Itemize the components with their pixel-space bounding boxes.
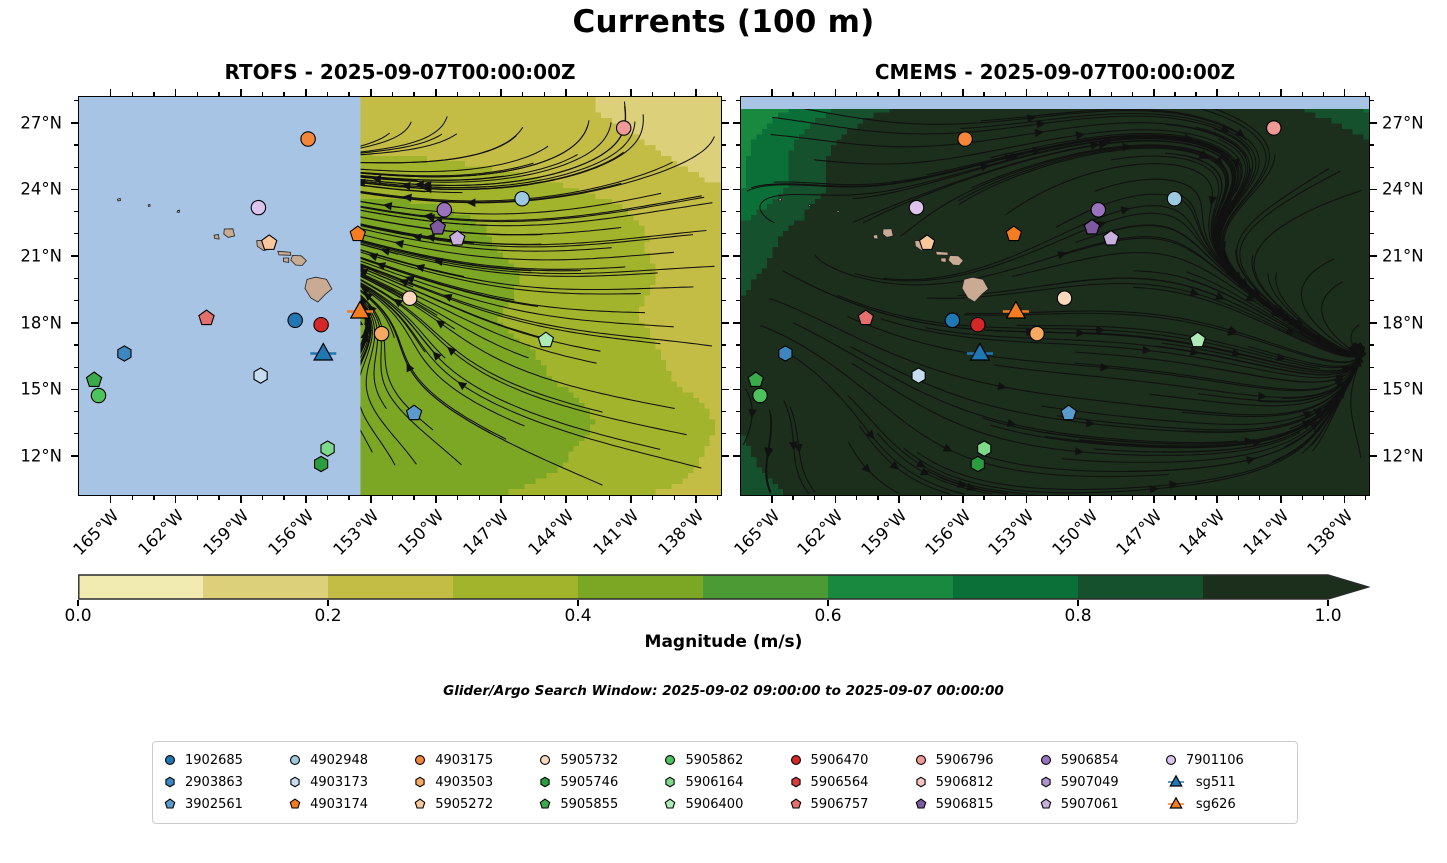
x-tick bbox=[1089, 496, 1091, 503]
figure-title: Currents (100 m) bbox=[0, 4, 1447, 40]
y-tick-opposite bbox=[722, 322, 729, 324]
x-minor-tick bbox=[413, 496, 414, 500]
legend-label: 5905732 bbox=[560, 753, 618, 768]
x-minor-tick bbox=[856, 496, 857, 500]
x-minor-tick bbox=[877, 92, 878, 96]
marker-4903175 bbox=[301, 132, 315, 146]
x-minor-tick bbox=[1323, 496, 1324, 500]
x-minor-tick bbox=[652, 496, 653, 500]
legend-marker-hexagon bbox=[662, 774, 678, 790]
marker-2903863 bbox=[779, 346, 792, 361]
y-minor-tick bbox=[722, 278, 726, 279]
y-minor-tick bbox=[1370, 300, 1374, 301]
colorbar-band bbox=[1078, 575, 1204, 599]
float-legend: 1902685490294849031755905732590586259064… bbox=[152, 741, 1298, 824]
x-tick-label: 144°W bbox=[524, 506, 577, 559]
x-minor-tick bbox=[587, 92, 588, 96]
x-minor-tick bbox=[609, 92, 610, 96]
x-minor-tick bbox=[1259, 496, 1260, 500]
island-niihau bbox=[873, 235, 878, 240]
x-minor-tick bbox=[283, 496, 284, 500]
x-minor-tick bbox=[1111, 496, 1112, 500]
y-tick-label: 27°N bbox=[1382, 113, 1447, 132]
y-tick-label: 12°N bbox=[1382, 447, 1447, 466]
colorbar-tick-label: 0.8 bbox=[1064, 606, 1091, 626]
legend-grid: 1902685490294849031755905732590586259064… bbox=[162, 749, 1288, 815]
y-tick-label: 18°N bbox=[0, 313, 62, 332]
x-minor-tick bbox=[1047, 92, 1048, 96]
y-minor-tick bbox=[74, 344, 78, 345]
y-tick-opposite bbox=[733, 389, 740, 391]
search-window-caption: Glider/Argo Search Window: 2025-09-02 09… bbox=[0, 683, 1447, 699]
x-tick-top bbox=[1026, 89, 1028, 96]
colorbar-tick-label: 0.6 bbox=[814, 606, 841, 626]
legend-label: 5905862 bbox=[685, 753, 743, 768]
legend-label: 5906812 bbox=[936, 775, 994, 790]
x-tick-label: 141°W bbox=[1239, 506, 1292, 559]
x-minor-tick bbox=[587, 496, 588, 500]
x-minor-tick bbox=[1132, 496, 1133, 500]
legend-item-7901106[interactable]: 7901106 bbox=[1163, 749, 1288, 771]
x-minor-tick bbox=[1195, 496, 1196, 500]
x-minor-tick bbox=[1238, 496, 1239, 500]
y-tick-opposite bbox=[722, 389, 729, 391]
y-minor-tick bbox=[722, 344, 726, 345]
y-tick bbox=[71, 189, 78, 191]
x-tick bbox=[565, 496, 567, 503]
y-minor-tick bbox=[1370, 433, 1374, 434]
x-minor-tick bbox=[348, 496, 349, 500]
x-tick-label: 153°W bbox=[985, 506, 1038, 559]
x-tick-top bbox=[435, 89, 437, 96]
x-minor-tick bbox=[479, 496, 480, 500]
legend-item-sg626[interactable]: sg626 bbox=[1163, 793, 1288, 815]
x-tick-top bbox=[1344, 89, 1346, 96]
island-lanai bbox=[283, 258, 288, 262]
legend-marker-circle bbox=[162, 752, 178, 768]
x-minor-tick bbox=[983, 496, 984, 500]
y-minor-tick bbox=[736, 300, 740, 301]
colorbar-tick-label: 0.2 bbox=[314, 606, 341, 626]
marker-4902948 bbox=[515, 192, 529, 206]
x-minor-tick bbox=[814, 92, 815, 96]
x-tick bbox=[240, 496, 242, 503]
colorbar bbox=[78, 574, 1370, 600]
x-minor-tick bbox=[814, 496, 815, 500]
y-minor-tick bbox=[722, 144, 726, 145]
y-minor-tick bbox=[736, 367, 740, 368]
panel-title-cmems: CMEMS - 2025-09-07T00:00:00Z bbox=[740, 60, 1370, 84]
x-minor-tick bbox=[1005, 496, 1006, 500]
x-tick-label: 153°W bbox=[329, 506, 382, 559]
legend-marker-circle bbox=[788, 752, 804, 768]
marker-5906854 bbox=[1091, 203, 1105, 217]
legend-item-5906757[interactable]: 5906757 bbox=[788, 793, 913, 815]
legend-marker-hexagon bbox=[1038, 774, 1054, 790]
legend-item-4903174[interactable]: 4903174 bbox=[287, 793, 412, 815]
legend-marker-hexagon bbox=[162, 774, 178, 790]
y-minor-tick bbox=[1370, 100, 1374, 101]
x-tick-top bbox=[565, 89, 567, 96]
y-tick bbox=[1370, 255, 1377, 257]
x-tick-top bbox=[305, 89, 307, 96]
legend-label: 4903173 bbox=[310, 775, 368, 790]
x-minor-tick bbox=[1323, 92, 1324, 96]
y-minor-tick bbox=[74, 211, 78, 212]
x-tick bbox=[175, 496, 177, 503]
y-minor-tick bbox=[1370, 367, 1374, 368]
marker-5906164 bbox=[978, 441, 991, 456]
y-minor-tick bbox=[736, 211, 740, 212]
y-tick bbox=[1370, 189, 1377, 191]
marker-5906164 bbox=[321, 441, 334, 456]
marker-7901106 bbox=[251, 200, 265, 214]
marker-2903863 bbox=[118, 346, 131, 361]
legend-marker-pentagon bbox=[537, 796, 553, 812]
y-minor-tick bbox=[722, 433, 726, 434]
x-minor-tick bbox=[792, 92, 793, 96]
x-minor-tick bbox=[1302, 496, 1303, 500]
x-minor-tick bbox=[674, 92, 675, 96]
x-minor-tick bbox=[941, 496, 942, 500]
y-tick-label: 27°N bbox=[0, 113, 62, 132]
x-tick-top bbox=[240, 89, 242, 96]
y-tick bbox=[1370, 322, 1377, 324]
y-tick bbox=[1370, 455, 1377, 457]
colorbar-band bbox=[578, 575, 704, 599]
map-panel-rtofs[interactable] bbox=[78, 96, 722, 496]
marker-1902685 bbox=[945, 313, 959, 327]
x-minor-tick bbox=[920, 496, 921, 500]
marker-5905732 bbox=[403, 291, 417, 305]
x-minor-tick bbox=[153, 496, 154, 500]
y-minor-tick bbox=[736, 233, 740, 234]
x-tick bbox=[500, 496, 502, 503]
marker-5906796 bbox=[1267, 121, 1281, 135]
legend-item-5906796[interactable]: 5906796 bbox=[913, 749, 1038, 771]
y-minor-tick bbox=[1370, 167, 1374, 168]
y-minor-tick bbox=[74, 367, 78, 368]
island-nihoa bbox=[177, 210, 179, 212]
x-minor-tick bbox=[218, 92, 219, 96]
legend-label: sg511 bbox=[1196, 775, 1236, 790]
x-minor-tick bbox=[1111, 92, 1112, 96]
x-tick-label: 165°W bbox=[730, 506, 783, 559]
x-tick-top bbox=[1153, 89, 1155, 96]
marker-4902948 bbox=[1167, 192, 1181, 206]
legend-label: 4903174 bbox=[310, 797, 368, 812]
legend-marker-pentagon bbox=[412, 796, 428, 812]
x-minor-tick bbox=[544, 496, 545, 500]
x-tick-label: 159°W bbox=[199, 506, 252, 559]
y-tick-label: 12°N bbox=[0, 447, 62, 466]
y-minor-tick bbox=[722, 367, 726, 368]
marker-5906470 bbox=[971, 318, 985, 332]
legend-marker-circle bbox=[913, 752, 929, 768]
marker-5905862 bbox=[753, 388, 767, 402]
y-minor-tick bbox=[1370, 211, 1374, 212]
y-tick-opposite bbox=[722, 255, 729, 257]
x-tick bbox=[1216, 496, 1218, 503]
legend-marker-triangle-track bbox=[1163, 774, 1189, 790]
legend-label: 5905272 bbox=[435, 797, 493, 812]
x-tick-label: 159°W bbox=[857, 506, 910, 559]
legend-item-5906854[interactable]: 5906854 bbox=[1038, 749, 1163, 771]
x-minor-tick bbox=[218, 496, 219, 500]
x-minor-tick bbox=[1068, 92, 1069, 96]
legend-item-4903173[interactable]: 4903173 bbox=[287, 771, 412, 793]
legend-item-4903175[interactable]: 4903175 bbox=[412, 749, 537, 771]
marker-1902685 bbox=[288, 313, 302, 327]
x-tick bbox=[1344, 496, 1346, 503]
legend-label: 3902561 bbox=[185, 797, 243, 812]
colorbar-band bbox=[203, 575, 329, 599]
x-minor-tick bbox=[153, 92, 154, 96]
marker-4903173 bbox=[912, 368, 925, 383]
y-minor-tick bbox=[74, 144, 78, 145]
legend-item-5907061[interactable]: 5907061 bbox=[1038, 793, 1163, 815]
island-necker bbox=[118, 198, 121, 201]
x-tick-label: 150°W bbox=[394, 506, 447, 559]
legend-item-1902685[interactable]: 1902685 bbox=[162, 749, 287, 771]
y-tick-label: 24°N bbox=[0, 180, 62, 199]
y-tick-opposite bbox=[733, 455, 740, 457]
x-tick-top bbox=[771, 89, 773, 96]
y-tick-opposite bbox=[733, 255, 740, 257]
legend-item-5906564[interactable]: 5906564 bbox=[788, 771, 913, 793]
x-minor-tick bbox=[920, 92, 921, 96]
x-tick bbox=[305, 496, 307, 503]
legend-label: 5906757 bbox=[811, 797, 869, 812]
x-minor-tick bbox=[609, 496, 610, 500]
legend-item-2903863[interactable]: 2903863 bbox=[162, 771, 287, 793]
x-minor-tick bbox=[674, 496, 675, 500]
legend-item-4903503[interactable]: 4903503 bbox=[412, 771, 537, 793]
x-minor-tick bbox=[1047, 496, 1048, 500]
legend-marker-hexagon bbox=[287, 774, 303, 790]
x-minor-tick bbox=[132, 496, 133, 500]
x-tick-top bbox=[175, 89, 177, 96]
legend-label: 5907049 bbox=[1061, 775, 1119, 790]
legend-label: 5907061 bbox=[1061, 797, 1119, 812]
legend-marker-circle bbox=[1163, 752, 1179, 768]
y-minor-tick bbox=[1370, 278, 1374, 279]
x-minor-tick bbox=[1238, 92, 1239, 96]
legend-label: 5906164 bbox=[685, 775, 743, 790]
legend-marker-pentagon bbox=[662, 796, 678, 812]
legend-marker-circle bbox=[662, 752, 678, 768]
y-minor-tick bbox=[736, 344, 740, 345]
legend-marker-pentagon bbox=[788, 796, 804, 812]
x-tick bbox=[630, 496, 632, 503]
legend-label: 5905746 bbox=[560, 775, 618, 790]
legend-item-5905862[interactable]: 5905862 bbox=[662, 749, 787, 771]
y-tick-opposite bbox=[733, 322, 740, 324]
x-tick-label: 141°W bbox=[589, 506, 642, 559]
x-minor-tick bbox=[1365, 496, 1366, 500]
x-minor-tick bbox=[283, 92, 284, 96]
y-minor-tick bbox=[722, 167, 726, 168]
y-tick-label: 15°N bbox=[0, 380, 62, 399]
marker-7901106 bbox=[909, 200, 923, 214]
y-minor-tick bbox=[722, 100, 726, 101]
x-minor-tick bbox=[544, 92, 545, 96]
x-minor-tick bbox=[877, 496, 878, 500]
island-gardner bbox=[148, 205, 150, 207]
x-minor-tick bbox=[652, 92, 653, 96]
legend-item-5905855[interactable]: 5905855 bbox=[537, 793, 662, 815]
x-minor-tick bbox=[457, 496, 458, 500]
x-minor-tick bbox=[1195, 92, 1196, 96]
y-tick bbox=[71, 455, 78, 457]
legend-label: sg626 bbox=[1196, 797, 1236, 812]
colorbar-tick-label: 0.4 bbox=[564, 606, 591, 626]
marker-5906470 bbox=[314, 318, 328, 332]
legend-marker-hexagon bbox=[412, 774, 428, 790]
legend-marker-circle bbox=[1038, 752, 1054, 768]
x-minor-tick bbox=[132, 92, 133, 96]
marker-5905732 bbox=[1057, 291, 1071, 305]
y-minor-tick bbox=[74, 233, 78, 234]
y-minor-tick bbox=[736, 100, 740, 101]
x-minor-tick bbox=[717, 92, 718, 96]
x-tick-top bbox=[370, 89, 372, 96]
x-minor-tick bbox=[479, 92, 480, 96]
legend-item-5905746[interactable]: 5905746 bbox=[537, 771, 662, 793]
marker-5906796 bbox=[617, 121, 631, 135]
y-tick-label: 24°N bbox=[1382, 180, 1447, 199]
y-minor-tick bbox=[736, 278, 740, 279]
y-minor-tick bbox=[74, 411, 78, 412]
island-gardner bbox=[809, 205, 811, 207]
x-tick-label: 138°W bbox=[654, 506, 707, 559]
legend-label: 5905855 bbox=[560, 797, 618, 812]
x-tick-label: 147°W bbox=[459, 506, 512, 559]
legend-label: 5906815 bbox=[936, 797, 994, 812]
y-minor-tick bbox=[722, 411, 726, 412]
y-minor-tick bbox=[736, 144, 740, 145]
x-tick-label: 147°W bbox=[1112, 506, 1165, 559]
x-minor-tick bbox=[392, 496, 393, 500]
legend-item-sg511[interactable]: sg511 bbox=[1163, 771, 1288, 793]
island-lanai bbox=[941, 258, 946, 262]
x-minor-tick bbox=[348, 92, 349, 96]
x-minor-tick bbox=[262, 496, 263, 500]
marker-4903503 bbox=[1030, 326, 1044, 340]
colorbar-band bbox=[703, 575, 829, 599]
legend-item-4902948[interactable]: 4902948 bbox=[287, 749, 412, 771]
legend-marker-hexagon bbox=[537, 774, 553, 790]
marker-5905862 bbox=[91, 388, 105, 402]
y-minor-tick bbox=[1370, 411, 1374, 412]
y-tick-label: 18°N bbox=[1382, 313, 1447, 332]
legend-item-5906164[interactable]: 5906164 bbox=[662, 771, 787, 793]
y-minor-tick bbox=[736, 167, 740, 168]
legend-label: 1902685 bbox=[185, 753, 243, 768]
y-minor-tick bbox=[1370, 233, 1374, 234]
colorbar-label: Magnitude (m/s) bbox=[0, 632, 1447, 652]
y-minor-tick bbox=[1370, 344, 1374, 345]
legend-marker-circle bbox=[412, 752, 428, 768]
y-tick-opposite bbox=[733, 122, 740, 124]
legend-item-3902561[interactable]: 3902561 bbox=[162, 793, 287, 815]
colorbar-tick-label: 1.0 bbox=[1314, 606, 1341, 626]
legend-marker-pentagon bbox=[1038, 796, 1054, 812]
x-minor-tick bbox=[1068, 496, 1069, 500]
x-minor-tick bbox=[1259, 92, 1260, 96]
y-minor-tick bbox=[722, 233, 726, 234]
map-panel-cmems[interactable] bbox=[740, 96, 1370, 496]
legend-label: 5906564 bbox=[811, 775, 869, 790]
x-minor-tick bbox=[413, 92, 414, 96]
y-tick bbox=[71, 322, 78, 324]
y-tick bbox=[1370, 389, 1377, 391]
top-nodata-strip bbox=[741, 97, 1369, 109]
legend-marker-pentagon bbox=[162, 796, 178, 812]
y-tick bbox=[71, 255, 78, 257]
legend-label: 4903175 bbox=[435, 753, 493, 768]
x-tick-top bbox=[630, 89, 632, 96]
x-tick-top bbox=[1216, 89, 1218, 96]
x-tick-top bbox=[898, 89, 900, 96]
x-tick-label: 156°W bbox=[921, 506, 974, 559]
x-tick-label: 156°W bbox=[264, 506, 317, 559]
x-minor-tick bbox=[392, 92, 393, 96]
x-tick bbox=[435, 496, 437, 503]
legend-label: 4903503 bbox=[435, 775, 493, 790]
x-minor-tick bbox=[983, 92, 984, 96]
marker-5905746 bbox=[315, 456, 328, 471]
legend-label: 4902948 bbox=[310, 753, 368, 768]
x-tick bbox=[1280, 496, 1282, 503]
legend-item-5906815[interactable]: 5906815 bbox=[913, 793, 1038, 815]
x-tick-label: 144°W bbox=[1176, 506, 1229, 559]
y-tick bbox=[71, 389, 78, 391]
x-tick-top bbox=[1089, 89, 1091, 96]
x-tick bbox=[370, 496, 372, 503]
y-tick bbox=[1370, 122, 1377, 124]
y-tick-opposite bbox=[733, 189, 740, 191]
marker-5905746 bbox=[971, 456, 984, 471]
y-minor-tick bbox=[74, 278, 78, 279]
y-tick-opposite bbox=[722, 455, 729, 457]
x-minor-tick bbox=[522, 92, 523, 96]
island-molokai bbox=[936, 251, 949, 255]
legend-item-5906400[interactable]: 5906400 bbox=[662, 793, 787, 815]
legend-label: 2903863 bbox=[185, 775, 243, 790]
legend-marker-circle bbox=[537, 752, 553, 768]
legend-item-5905732[interactable]: 5905732 bbox=[537, 749, 662, 771]
y-tick-opposite bbox=[722, 189, 729, 191]
legend-item-5907049[interactable]: 5907049 bbox=[1038, 771, 1163, 793]
x-minor-tick bbox=[941, 92, 942, 96]
x-tick-label: 162°W bbox=[134, 506, 187, 559]
marker-4903175 bbox=[958, 132, 972, 146]
colorbar-band bbox=[453, 575, 579, 599]
y-minor-tick bbox=[74, 167, 78, 168]
legend-label: 7901106 bbox=[1186, 753, 1244, 768]
y-minor-tick bbox=[736, 411, 740, 412]
x-tick-top bbox=[1280, 89, 1282, 96]
x-minor-tick bbox=[856, 92, 857, 96]
x-minor-tick bbox=[1174, 92, 1175, 96]
x-tick-label: 165°W bbox=[69, 506, 122, 559]
legend-item-5905272[interactable]: 5905272 bbox=[412, 793, 537, 815]
legend-item-5906812[interactable]: 5906812 bbox=[913, 771, 1038, 793]
x-minor-tick bbox=[1132, 92, 1133, 96]
legend-item-5906470[interactable]: 5906470 bbox=[788, 749, 913, 771]
legend-marker-circle bbox=[287, 752, 303, 768]
